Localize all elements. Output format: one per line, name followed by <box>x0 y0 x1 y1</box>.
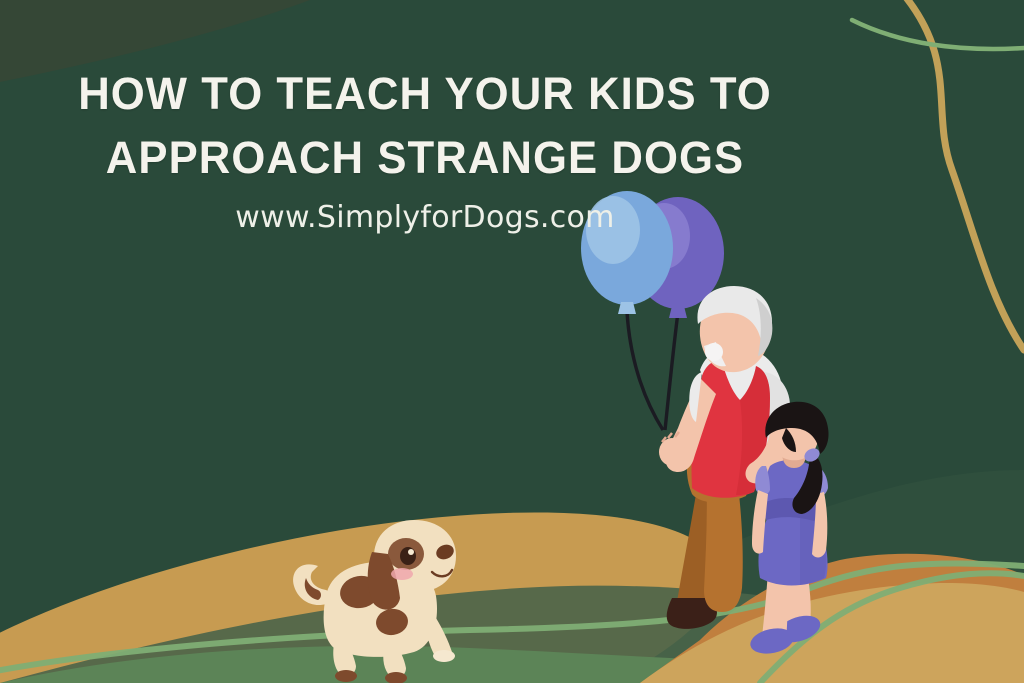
dog-hind-paw <box>335 670 357 682</box>
balloon-strings <box>627 312 678 430</box>
dog-tail <box>293 564 330 605</box>
puppy <box>293 520 456 683</box>
dog-front-paw <box>433 650 455 662</box>
dog-eye <box>400 547 416 565</box>
man-beard-tuft <box>705 343 723 361</box>
illustration-layer <box>0 0 1024 683</box>
dog-blush <box>391 568 413 580</box>
poster-canvas: HOW TO TEACH YOUR KIDS TO APPROACH STRAN… <box>0 0 1024 683</box>
dog-eye-highlight <box>408 549 414 555</box>
